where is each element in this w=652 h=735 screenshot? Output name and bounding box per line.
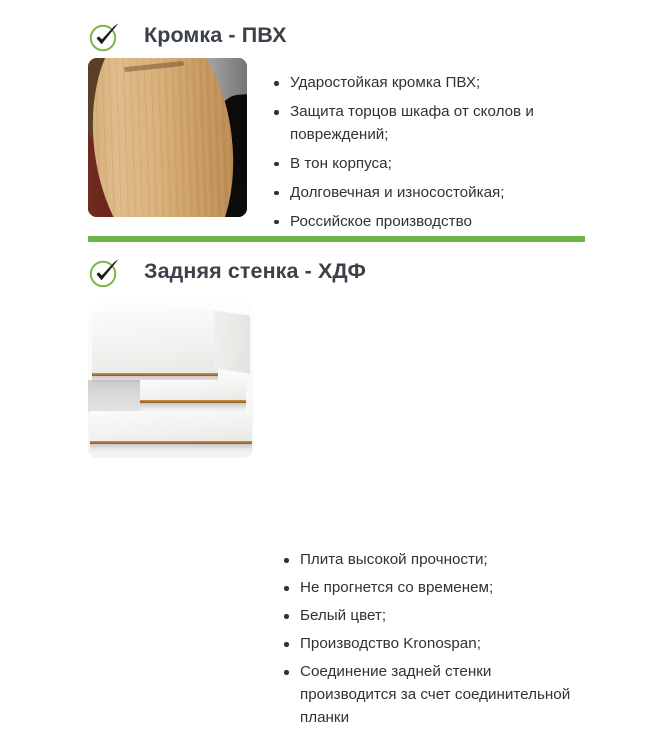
section-heading-back-panel: Задняя стенка - ХДФ <box>88 255 366 289</box>
product-image-pvc-edge <box>88 58 247 217</box>
hdf-panel-top-side <box>214 310 250 374</box>
check-circle-icon <box>88 19 122 53</box>
hdf-panel-top-face <box>92 311 218 373</box>
section-back-panel: Задняя стенка - ХДФ Плита высокой прочно… <box>0 246 652 500</box>
hdf-panels-artwork <box>88 303 253 458</box>
list-item: Белый цвет; <box>282 605 582 628</box>
list-item: Производство Kronospan; <box>282 633 582 656</box>
list-item: В тон корпуса; <box>272 153 572 176</box>
green-divider <box>88 236 585 242</box>
list-item: Долговечная и износостойкая; <box>272 182 572 205</box>
section-title-text: Задняя стенка - ХДФ <box>144 261 366 283</box>
section-heading-edge-banding: Кромка - ПВХ <box>88 19 287 53</box>
feature-list-edge-banding: Ударостойкая кромка ПВХ; Защита торцов ш… <box>272 72 572 240</box>
list-item: Соединение задней стенки производится за… <box>282 661 582 729</box>
hdf-panel-middle-face <box>140 380 246 400</box>
list-item: Ударостойкая кромка ПВХ; <box>272 72 572 95</box>
list-item: Российское производство <box>272 211 572 234</box>
list-item: Плита высокой прочности; <box>282 549 582 572</box>
list-item: Не прогнется со временем; <box>282 577 582 600</box>
hdf-panel-bottom-shadow <box>90 444 252 453</box>
section-edge-banding: Кромка - ПВХ Ударостойкая кромка ПВХ; За… <box>0 0 652 232</box>
pvc-coils-artwork <box>88 58 247 217</box>
feature-list-back-panel: Плита высокой прочности; Не прогнется со… <box>282 549 582 735</box>
check-circle-icon <box>88 255 122 289</box>
section-title-text: Кромка - ПВХ <box>144 25 287 47</box>
list-item: Защита торцов шкафа от сколов и поврежде… <box>272 101 572 146</box>
product-image-hdf-panels <box>88 303 253 458</box>
hdf-panel-bottom-face <box>90 411 252 441</box>
promo-specs-page: Кромка - ПВХ Ударостойкая кромка ПВХ; За… <box>0 0 652 500</box>
